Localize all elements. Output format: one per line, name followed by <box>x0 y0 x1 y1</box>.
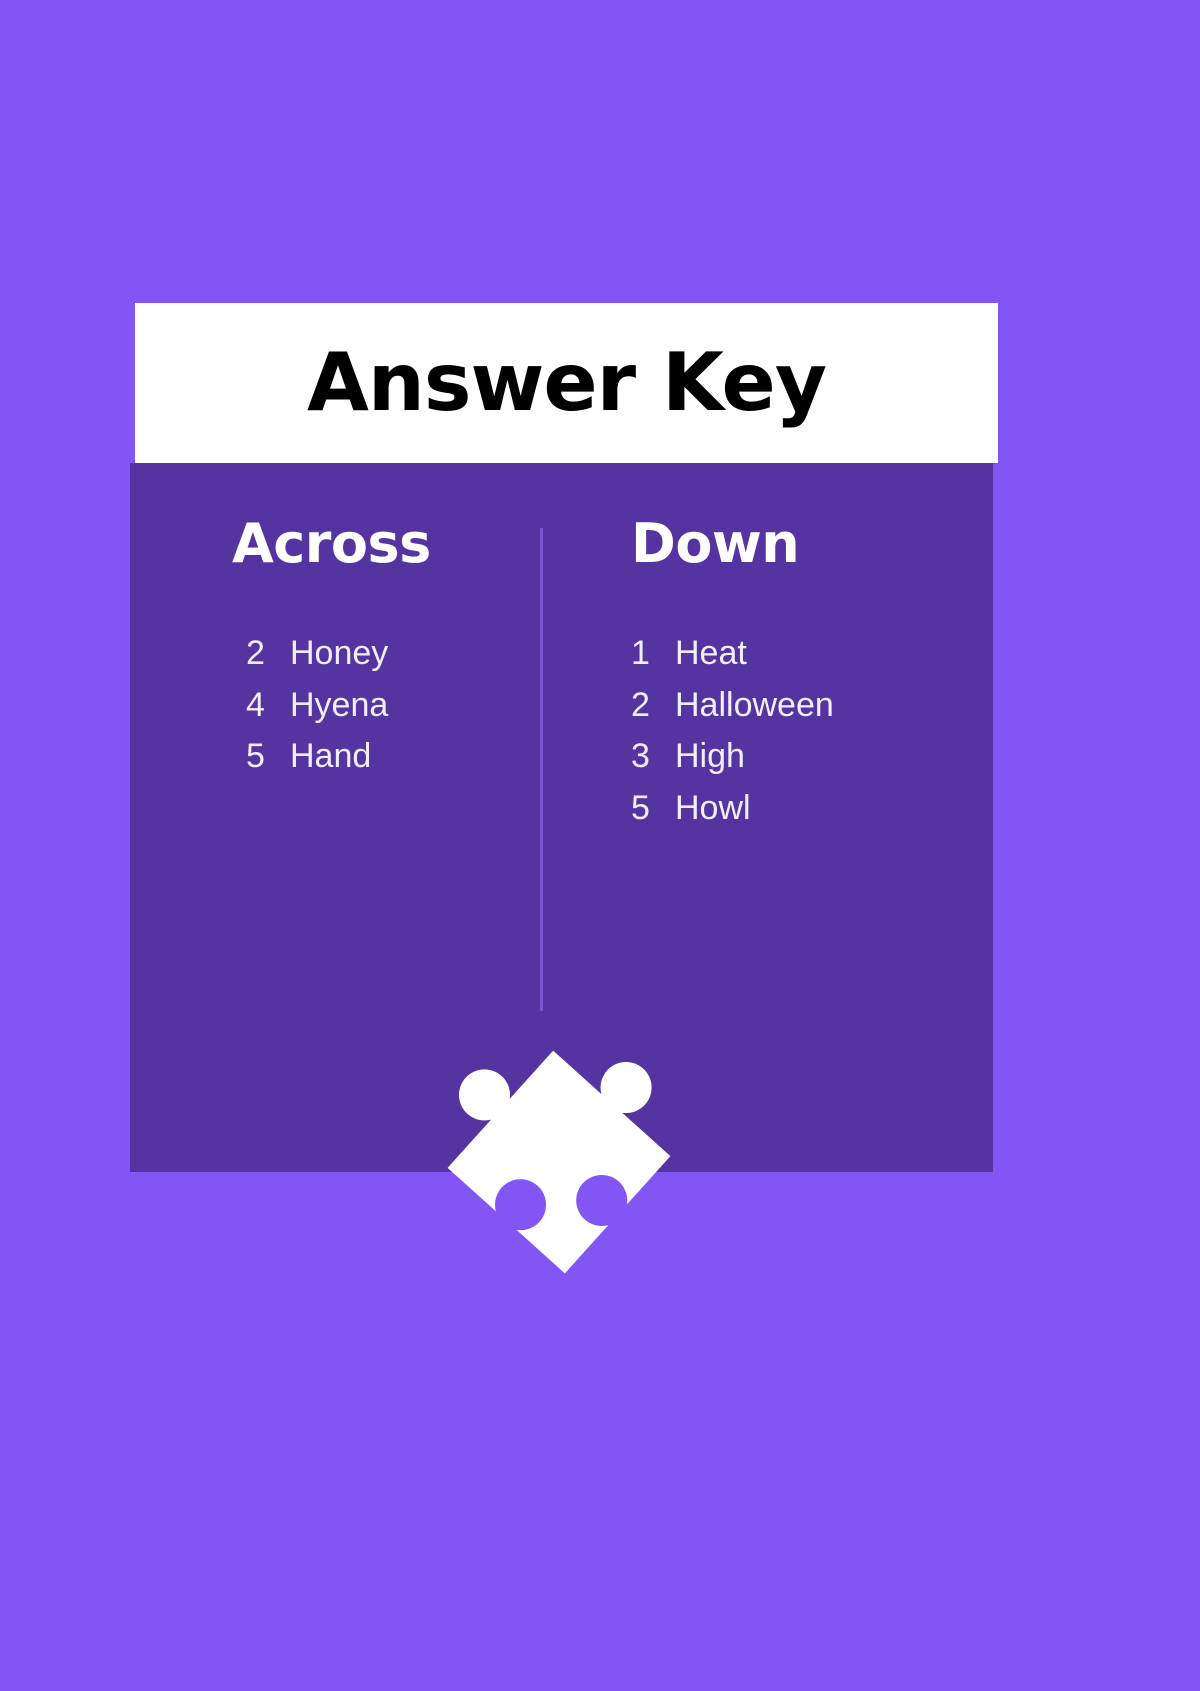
clue-answer: High <box>675 734 745 779</box>
across-answer-list: 2 Honey 4 Hyena 5 Hand <box>246 631 541 780</box>
across-heading: Across <box>232 516 541 573</box>
clue-number: 3 <box>631 734 675 779</box>
answers-columns: Across 2 Honey 4 Hyena 5 Hand <box>130 463 993 1023</box>
page-title: Answer Key <box>307 343 826 423</box>
clue-answer: Heat <box>675 631 747 676</box>
clue-number: 2 <box>246 631 290 676</box>
clue-answer: Hand <box>290 734 371 779</box>
down-column: Down 1 Heat 2 Halloween 3 High <box>541 463 993 1023</box>
title-band: Answer Key <box>135 303 998 463</box>
down-heading: Down <box>631 516 993 573</box>
down-answer-list: 1 Heat 2 Halloween 3 High 5 Howl <box>631 631 993 832</box>
clue-number: 2 <box>631 683 675 728</box>
list-item: 3 High <box>631 734 993 779</box>
answers-panel: Across 2 Honey 4 Hyena 5 Hand <box>130 463 993 1172</box>
clue-answer: Hyena <box>290 683 388 728</box>
clue-answer: Honey <box>290 631 388 676</box>
across-column: Across 2 Honey 4 Hyena 5 Hand <box>130 463 541 1023</box>
clue-answer: Halloween <box>675 683 834 728</box>
clue-number: 4 <box>246 683 290 728</box>
clue-number: 1 <box>631 631 675 676</box>
column-divider <box>540 528 543 1011</box>
clue-number: 5 <box>631 786 675 831</box>
answer-key-poster: Answer Key Across 2 Honey 4 Hyena 5 <box>0 0 1200 1691</box>
list-item: 5 Hand <box>246 734 541 779</box>
clue-answer: Howl <box>675 786 751 831</box>
list-item: 1 Heat <box>631 631 993 676</box>
list-item: 2 Halloween <box>631 683 993 728</box>
list-item: 2 Honey <box>246 631 541 676</box>
list-item: 5 Howl <box>631 786 993 831</box>
list-item: 4 Hyena <box>246 683 541 728</box>
clue-number: 5 <box>246 734 290 779</box>
